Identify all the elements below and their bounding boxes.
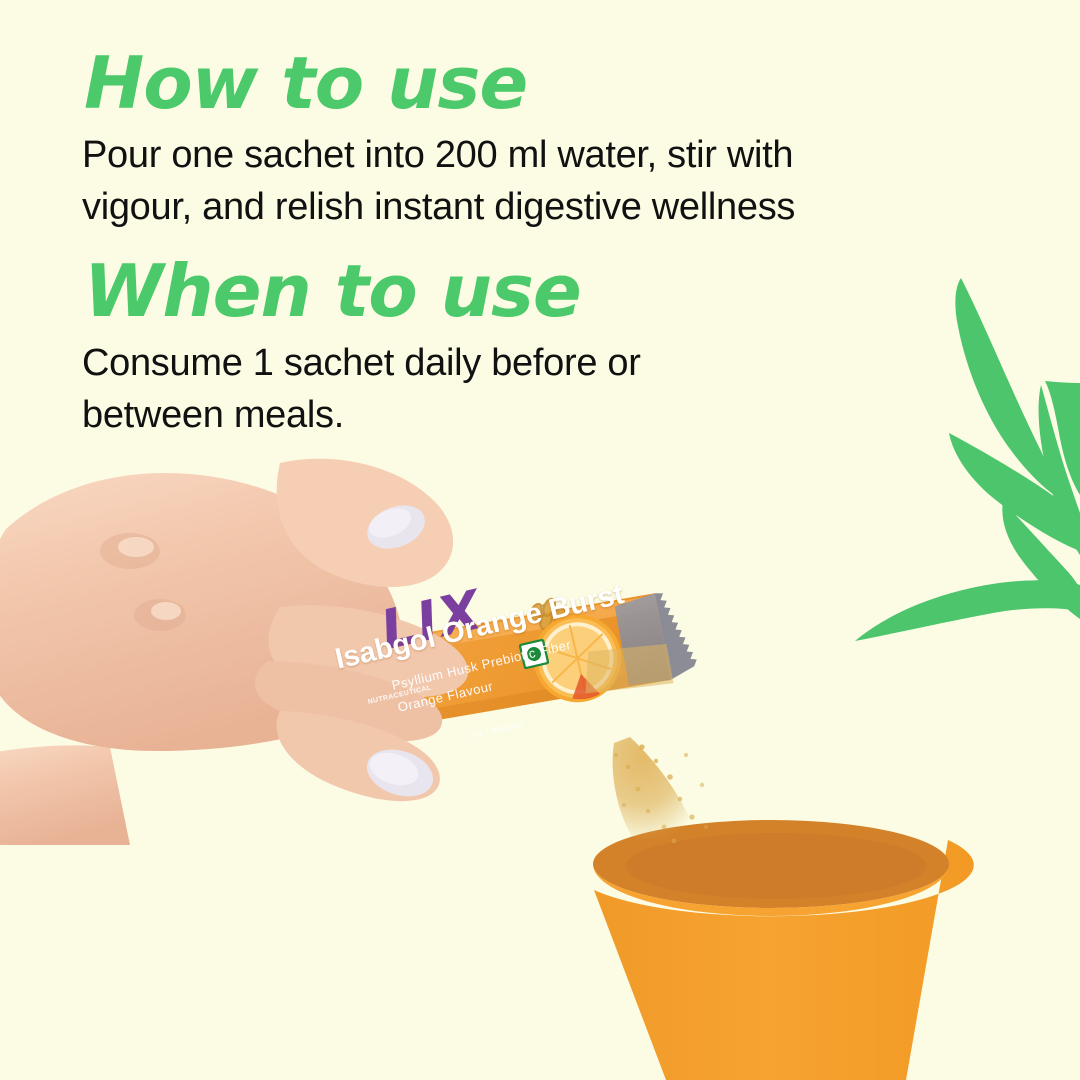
infographic-canvas: How to use Pour one sachet into 200 ml w… [0, 0, 1080, 1080]
page-title-when-to-use: When to use [84, 255, 581, 327]
how-to-use-description: Pour one sachet into 200 ml water, stir … [82, 129, 852, 233]
powder-stream [613, 737, 708, 843]
when-to-use-description: Consume 1 sachet daily before or between… [82, 337, 722, 441]
green-leaves-decoration [845, 255, 1080, 655]
orange-glass-cup [576, 812, 976, 1080]
page-title-how-to-use: How to use [84, 47, 527, 119]
